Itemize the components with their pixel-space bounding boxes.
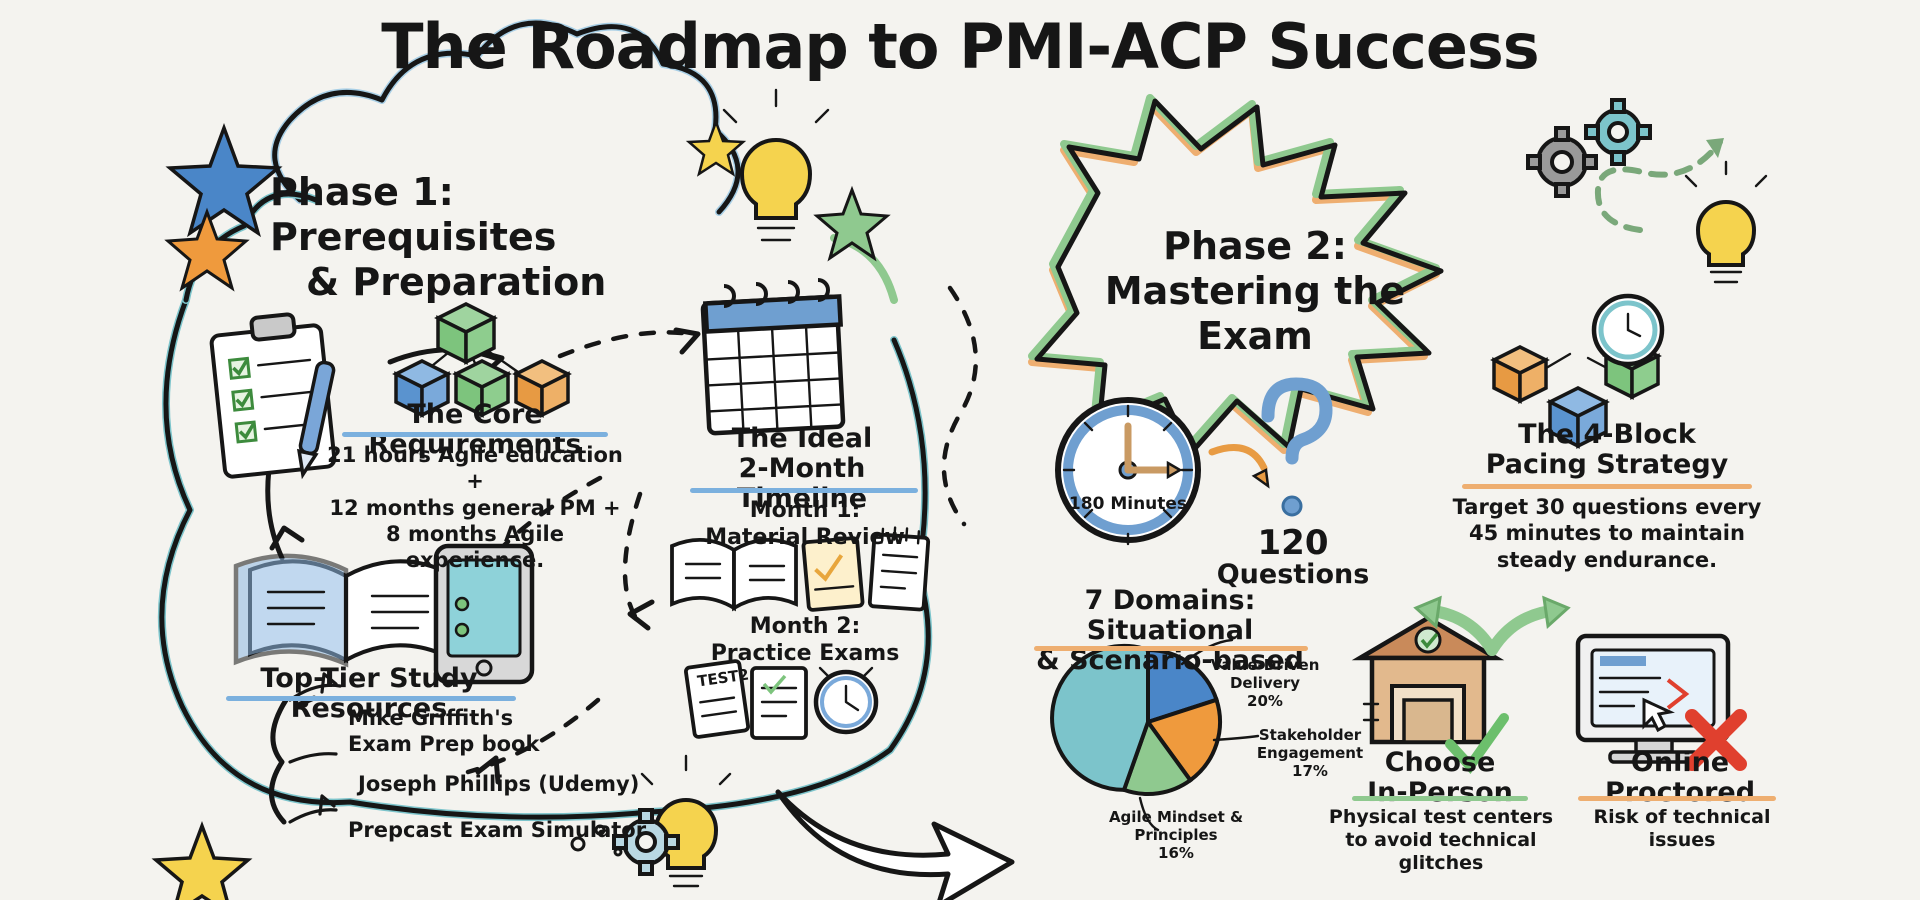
core-req-line-3: 8 months Agile experience. xyxy=(320,521,630,574)
pacing-heading: The 4-Block Pacing Strategy xyxy=(1452,420,1762,480)
decor-big-arrow xyxy=(778,792,1012,900)
core-requirements-body: 21 hours Agile education + 12 months gen… xyxy=(320,442,630,573)
pie-label-agile-mindset: Agile Mindset & Principles 16% xyxy=(1086,808,1266,862)
online-line-2: issues xyxy=(1562,829,1802,852)
in-person-line-1: Physical test centers xyxy=(1310,806,1572,829)
decor-star-green xyxy=(817,190,887,258)
study-resource-item-1: Mike Griffith's Exam Prep book xyxy=(348,706,688,757)
decor-lightbulb-right xyxy=(1686,162,1766,282)
in-person-line-3: glitches xyxy=(1310,852,1572,875)
timeline-month1: Month 1: Material Review xyxy=(680,498,930,552)
decor-lightbulb-top xyxy=(724,90,828,240)
pie-label-agile-mindset-text: Agile Mindset & Principles xyxy=(1086,808,1266,844)
infographic-canvas: .ink{fill:none;stroke:#161616;stroke-wid… xyxy=(0,0,1920,900)
pacing-body: Target 30 questions every 45 minutes to … xyxy=(1428,494,1786,573)
study-resource-item-3: Prepcast Exam Simulator xyxy=(348,818,688,844)
timeline-month2: Month 2: Practice Exams xyxy=(680,614,930,668)
calendar-icon xyxy=(703,280,844,433)
online-line-1: Risk of technical xyxy=(1562,806,1802,829)
decor-star-blue xyxy=(170,128,278,233)
page-title: The Roadmap to PMI-ACP Success xyxy=(0,12,1920,81)
clock-duration-label: 180 Minutes xyxy=(1058,494,1198,514)
exam-clock-icon xyxy=(1058,400,1198,544)
in-person-body: Physical test centers to avoid technical… xyxy=(1310,806,1572,876)
pie-slice-stakeholder xyxy=(1148,700,1220,780)
online-heading-line2: Proctored xyxy=(1570,778,1790,808)
decor-gear-blue xyxy=(1586,100,1650,164)
month2-line1: Month 2: xyxy=(680,614,930,641)
decor-star-yellow-bottom xyxy=(156,826,248,900)
month1-line1: Month 1: xyxy=(680,498,930,525)
phase1-heading: Phase 1: Prerequisites & Preparation xyxy=(270,170,710,304)
core-req-line-2: 12 months general PM + xyxy=(320,495,630,521)
decor-star-orange xyxy=(168,212,246,288)
study-resources-underline xyxy=(226,696,516,701)
clock-to-question-arrow xyxy=(1212,448,1268,486)
branching-arrow-icon xyxy=(1416,598,1568,650)
online-heading-line1: Online xyxy=(1570,748,1790,778)
phase1-heading-line1: Phase 1: Prerequisites xyxy=(270,170,710,260)
month1-line2: Material Review xyxy=(680,525,930,552)
phase1-heading-line2: & Preparation xyxy=(306,260,710,305)
domains-underline xyxy=(1034,646,1308,651)
study-resource-item-2: Joseph Phillips (Udemy) xyxy=(358,772,698,798)
core-requirements-underline xyxy=(342,432,608,437)
month2-practice-icon: TEST2 xyxy=(685,661,876,738)
phase2-heading-line1: Phase 2: xyxy=(1060,224,1450,269)
in-person-heading-line2: In-Person xyxy=(1330,778,1550,808)
pacing-line-1: Target 30 questions every xyxy=(1428,494,1786,520)
questions-count: 120 xyxy=(1222,524,1364,562)
online-underline xyxy=(1578,796,1776,801)
online-monitor-icon xyxy=(1578,636,1740,764)
month2-line2: Practice Exams xyxy=(680,641,930,668)
decor-gear-gray xyxy=(1528,128,1596,196)
pie-label-value-driven-text: Value-Driven Delivery xyxy=(1180,656,1350,692)
pacing-line-3: steady endurance. xyxy=(1428,547,1786,573)
timeline-heading-line1: The Ideal xyxy=(672,424,932,454)
wall-clock-icon xyxy=(1594,296,1662,364)
phase2-heading: Phase 2: Mastering the Exam xyxy=(1060,224,1450,358)
question-mark-icon xyxy=(1268,384,1326,515)
pie-label-agile-mindset-value: 16% xyxy=(1086,844,1266,862)
in-person-heading-line1: Choose xyxy=(1330,748,1550,778)
decor-dashed-arrow xyxy=(1598,138,1724,230)
pacing-heading-line1: The 4-Block xyxy=(1452,420,1762,450)
domains-heading-line1: 7 Domains: Situational xyxy=(1010,586,1330,646)
pacing-underline xyxy=(1462,484,1752,489)
clipboard-icon xyxy=(211,314,335,477)
phase2-heading-line2: Mastering the Exam xyxy=(1060,269,1450,359)
online-body: Risk of technical issues xyxy=(1562,806,1802,852)
svg-text:TEST2: TEST2 xyxy=(696,665,750,690)
timeline-underline xyxy=(690,488,918,493)
core-req-line-1: 21 hours Agile education + xyxy=(320,442,630,495)
in-person-underline xyxy=(1352,796,1528,801)
pacing-heading-line2: Pacing Strategy xyxy=(1452,450,1762,480)
decor-star-yellow-small xyxy=(689,122,743,174)
in-person-line-2: to avoid technical xyxy=(1310,829,1572,852)
pie-slice-agile-mindset xyxy=(1124,722,1190,794)
pie-label-value-driven-value: 20% xyxy=(1180,692,1350,710)
pacing-line-2: 45 minutes to maintain xyxy=(1428,520,1786,546)
pie-label-value-driven: Value-Driven Delivery 20% xyxy=(1180,656,1350,710)
study-resource-1-text: Mike Griffith's Exam Prep book xyxy=(348,706,688,757)
